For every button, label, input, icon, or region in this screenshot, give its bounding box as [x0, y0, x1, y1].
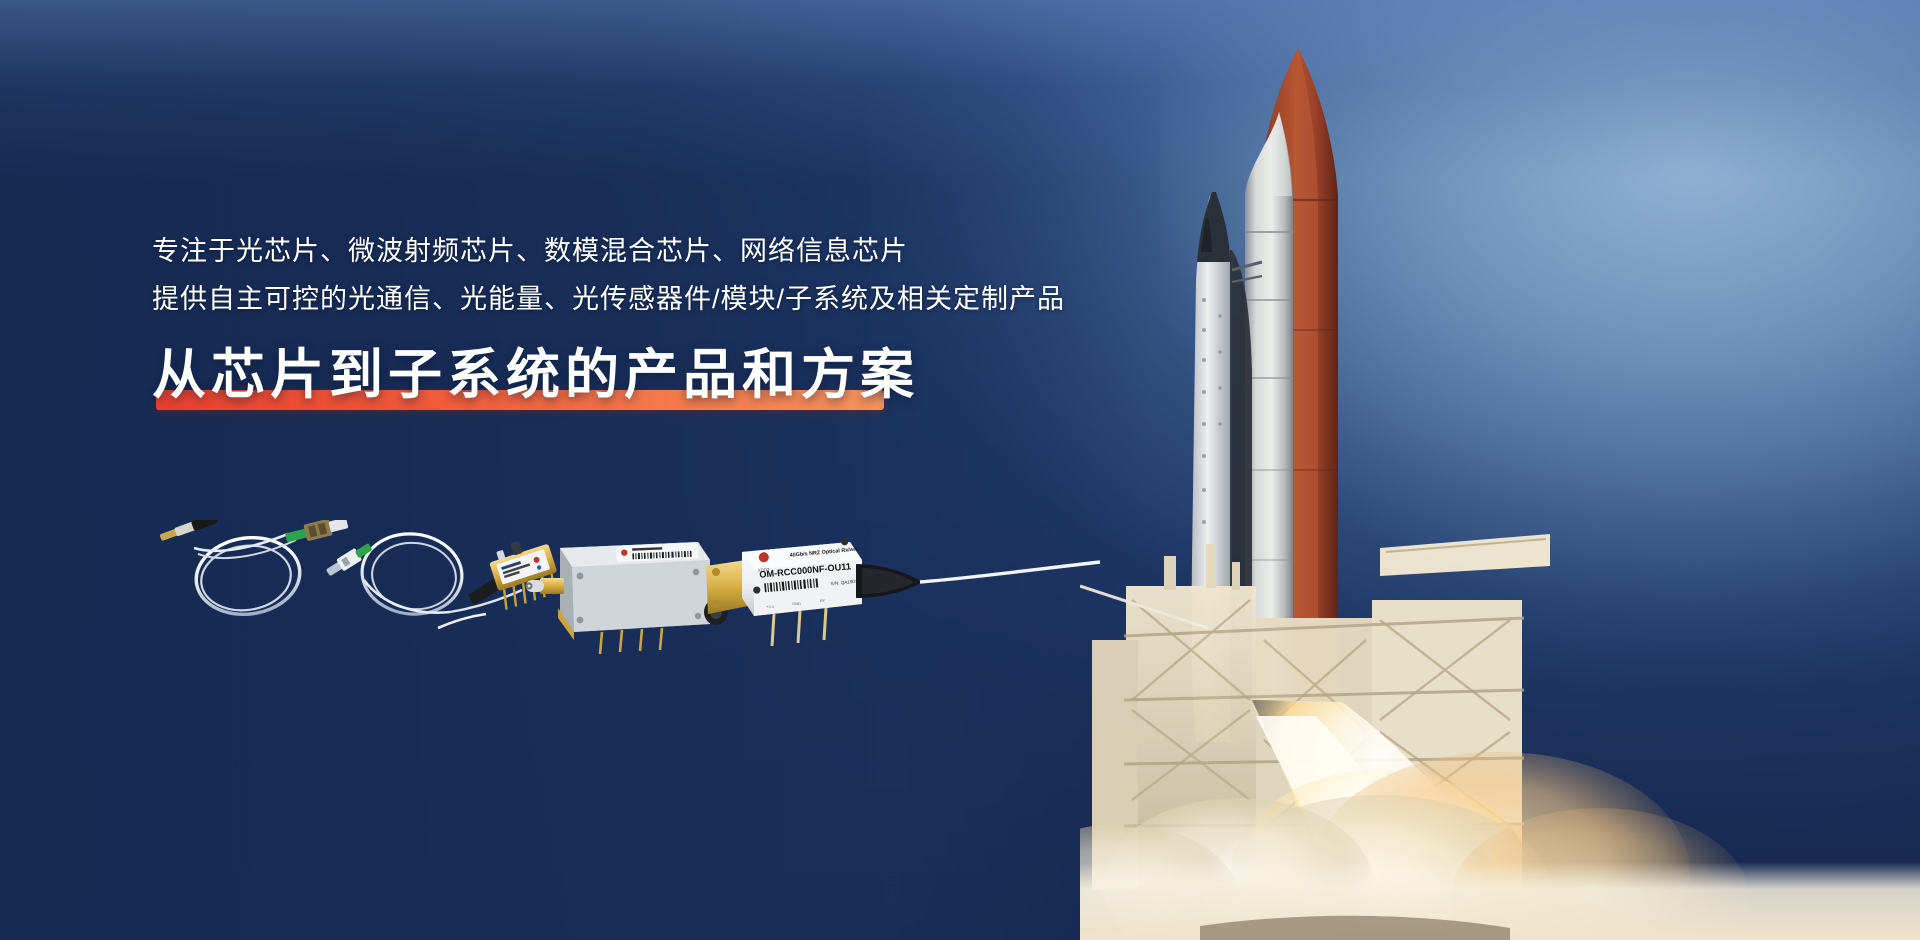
optical-receiver-module: XDOT 40Gb/s NRZ Optical Rx/wA OM-RCC000N…	[706, 536, 1100, 646]
space-shuttle-launch-scene	[1080, 0, 1920, 940]
product-showcase: XDOT 40Gb/s NRZ Optical Rx/wA OM-RCC000N…	[150, 520, 1110, 660]
subtitle-line-1: 专注于光芯片、微波射频芯片、数模混合芯片、网络信息芯片	[152, 228, 1152, 274]
page-title: 从芯片到子系统的产品和方案	[152, 342, 919, 408]
subtitle-line-2: 提供自主可控的光通信、光能量、光传感器件/模块/子系统及相关定制产品	[152, 276, 1152, 322]
rf-metal-housing-module	[525, 542, 728, 654]
svg-text:GND: GND	[792, 601, 801, 606]
fiber-pigtail-coil-left	[159, 520, 350, 621]
hero-banner: 专注于光芯片、微波射频芯片、数模混合芯片、网络信息芯片 提供自主可控的光通信、光…	[0, 0, 1920, 940]
fiber-pigtail-coil-right	[324, 529, 522, 619]
svg-text:RF: RF	[820, 598, 826, 603]
headline-wrap: 从芯片到子系统的产品和方案	[152, 342, 919, 412]
hero-copy: 专注于光芯片、微波射频芯片、数模混合芯片、网络信息芯片 提供自主可控的光通信、光…	[152, 228, 1152, 412]
svg-text:+3.3: +3.3	[766, 604, 775, 609]
